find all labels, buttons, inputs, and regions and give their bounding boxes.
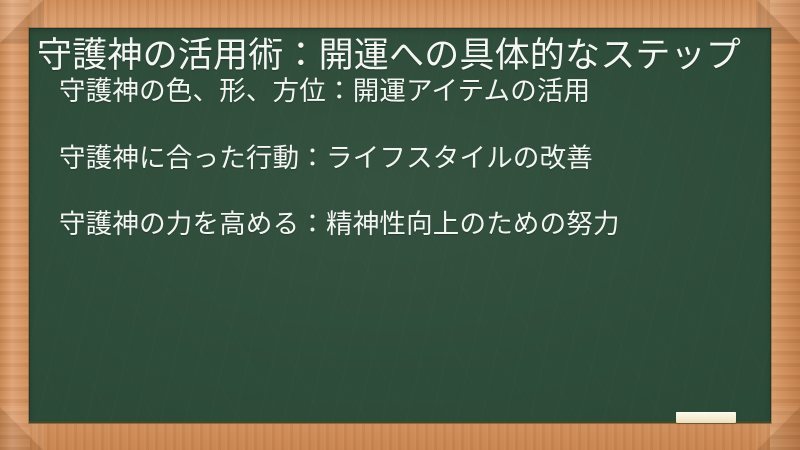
title-block: 守護神の活用術：開運への具体的なステップ — [33, 33, 751, 79]
bullet-item-2: 守護神に合った行動：ライフスタイルの改善 — [33, 146, 751, 173]
chalkboard-slide: 守護神の活用術：開運への具体的なステップ 守護神の色、形、方位：開運アイテムの活… — [0, 0, 800, 450]
chalkboard-surface: 守護神の活用術：開運への具体的なステップ 守護神の色、形、方位：開運アイテムの活… — [29, 28, 771, 423]
slide-title: 守護神の活用術：開運への具体的なステップ — [33, 33, 751, 79]
bullet-list: 守護神の色、形、方位：開運アイテムの活用 守護神に合った行動：ライフスタイルの改… — [33, 79, 751, 239]
bullet-item-3: 守護神の力を高める：精神性向上のための努力 — [33, 212, 751, 239]
frame-rail-right — [770, 0, 800, 450]
chalk-ledge-shadow — [29, 421, 771, 424]
chalkboard-content: 守護神の活用術：開運への具体的なステップ 守護神の色、形、方位：開運アイテムの活… — [29, 28, 771, 239]
chalk-stick-icon — [676, 412, 736, 423]
frame-rail-left — [0, 0, 30, 450]
bullet-item-1: 守護神の色、形、方位：開運アイテムの活用 — [33, 79, 751, 106]
